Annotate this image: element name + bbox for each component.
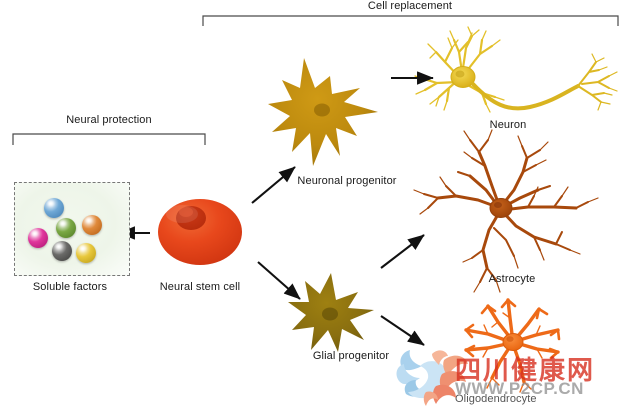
- neural-protection-bracket: [13, 134, 205, 145]
- astrocyte-art: [414, 130, 598, 292]
- sphere-green: [56, 218, 76, 238]
- arrow-stemcell-to-glial: [258, 262, 300, 299]
- watermark-url-text: WWW.P2CP.CN: [455, 379, 584, 399]
- node-label-soluble-factors: Soluble factors: [33, 281, 107, 293]
- neuronal-progenitor-art: [268, 58, 378, 166]
- bracket-label-cell-replacement: Cell replacement: [368, 0, 452, 12]
- neuron-art: [415, 27, 617, 112]
- node-label-neural-stem-cell: Neural stem cell: [160, 281, 240, 293]
- figure-canvas: Cell replacement Neural protection Solub…: [0, 0, 625, 409]
- node-label-neuronal-progenitor: Neuronal progenitor: [297, 175, 396, 187]
- bracket-label-neural-protection: Neural protection: [66, 114, 151, 126]
- node-label-astrocyte: Astrocyte: [489, 273, 536, 285]
- cell-replacement-bracket: [203, 16, 618, 26]
- arrow-stemcell-to-neuronal: [252, 167, 295, 203]
- arrow-glial-to-astrocyte: [381, 235, 424, 268]
- sphere-yellow: [76, 243, 96, 263]
- sphere-orange: [82, 215, 102, 235]
- node-label-glial-progenitor: Glial progenitor: [313, 350, 389, 362]
- neural-stem-cell-art: [158, 199, 242, 265]
- node-label-neuron: Neuron: [490, 119, 527, 131]
- sphere-gray: [52, 241, 72, 261]
- glial-progenitor-art: [288, 273, 374, 352]
- flow-arrows: [119, 78, 433, 345]
- sphere-magenta: [28, 228, 48, 248]
- sphere-blue: [44, 198, 64, 218]
